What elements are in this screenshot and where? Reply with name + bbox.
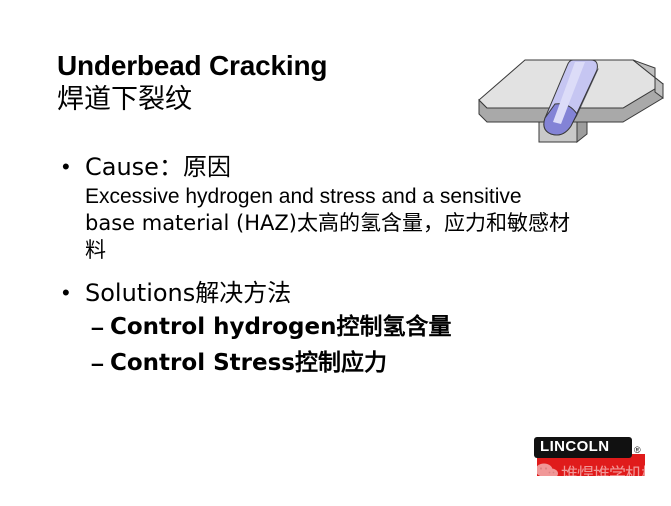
wechat-watermark: 堆焊堆学机械 (533, 458, 649, 484)
bullet-marker-icon: • (62, 278, 70, 308)
slide-canvas: Underbead Cracking 焊道下裂纹 (0, 0, 671, 506)
title-chinese: 焊道下裂纹 (57, 83, 477, 117)
bullet-solutions: • Solutions解决方法 (58, 278, 658, 308)
paragraph-line: 料 (85, 237, 671, 264)
watermark-text: 堆焊堆学机械 (561, 460, 657, 485)
bullet-cause-paragraph: Excessive hydrogen and stress and a sens… (58, 183, 671, 264)
sub-bullet-marker-icon: – (91, 310, 104, 344)
slide-body: • Cause：原因 Excessive hydrogen and stress… (58, 152, 658, 380)
slide-title: Underbead Cracking 焊道下裂纹 (57, 49, 477, 117)
lincoln-logo: LINCOLN ® 堆焊堆学机械 (533, 434, 649, 486)
title-english: Underbead Cracking (57, 49, 477, 83)
registered-trademark-icon: ® (634, 445, 641, 455)
bullet-cause-heading: Cause：原因 (85, 152, 658, 182)
sub-bullet-label: Control hydrogen控制氢含量 (110, 310, 658, 344)
bullet-marker-icon: • (62, 152, 70, 182)
paragraph-line: base material (HAZ)太高的氢含量，应力和敏感材 (85, 210, 671, 237)
sub-bullet-marker-icon: – (91, 346, 104, 380)
paragraph-line: Excessive hydrogen and stress and a sens… (85, 183, 671, 210)
bullet-solutions-heading: Solutions解决方法 (85, 278, 658, 308)
logo-brand-text: LINCOLN (540, 438, 609, 455)
wechat-icon (535, 463, 559, 485)
sub-bullet-label: Control Stress控制应力 (110, 346, 658, 380)
sub-bullet-control-stress: – Control Stress控制应力 (58, 346, 658, 380)
sub-bullet-control-hydrogen: – Control hydrogen控制氢含量 (58, 310, 658, 344)
weld-bead-diagram (473, 38, 669, 148)
bullet-cause: • Cause：原因 (58, 152, 658, 182)
